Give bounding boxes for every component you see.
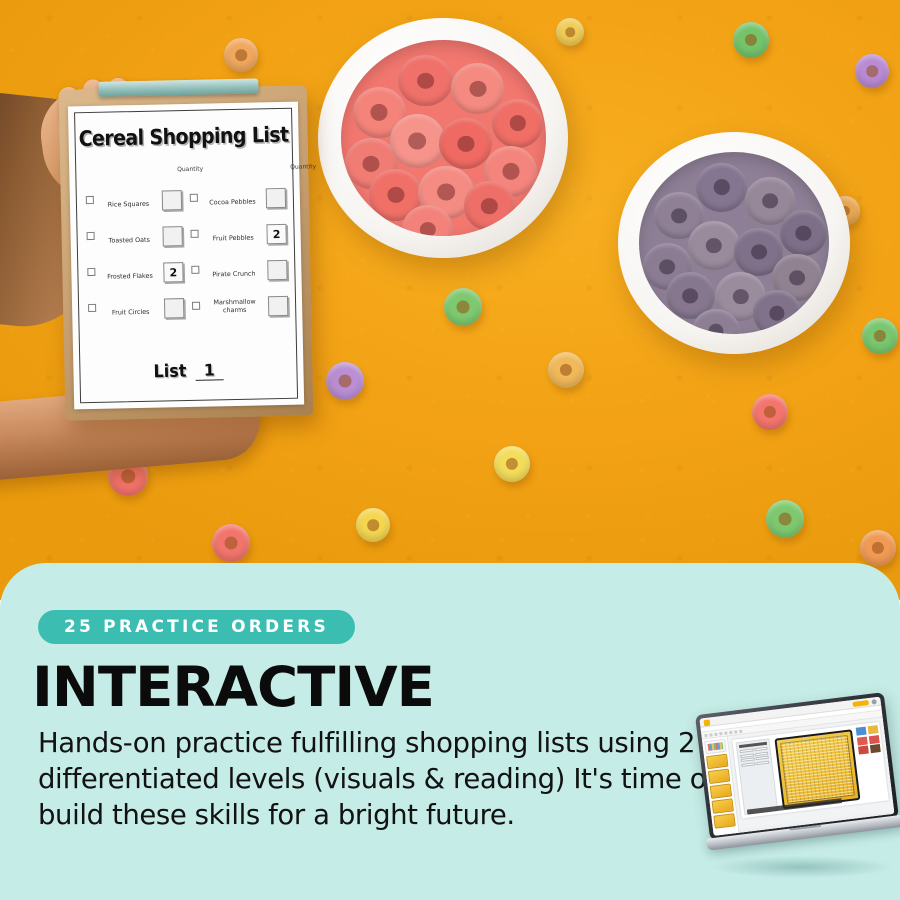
slides-logo-icon [704, 720, 711, 727]
cereal-loop [356, 508, 390, 542]
item-checkbox[interactable] [192, 302, 200, 310]
item-name: Fruit Pebbles [203, 233, 264, 245]
list-item[interactable]: Cocoa Pebbles [189, 176, 286, 210]
cereal-loop [224, 38, 258, 72]
panel-body-line-2: build these skills for a bright future. [38, 798, 718, 834]
cereal-loop [855, 54, 889, 88]
cereal-loop [862, 318, 898, 354]
item-checkbox[interactable] [88, 304, 96, 312]
toolbar-icon[interactable] [719, 732, 722, 735]
slide-shopping-list [736, 738, 779, 815]
red-bowl-contents [341, 40, 546, 237]
cereal-loop [556, 18, 584, 46]
cereal-loop [494, 446, 530, 482]
poster-root: Cereal Shopping List Quantity Quantity R… [0, 0, 900, 900]
item-name: Rice Squares [98, 200, 159, 212]
cereal-box [858, 745, 869, 754]
toolbar-icon[interactable] [729, 730, 732, 733]
slide-thumbnail[interactable] [708, 769, 730, 784]
panel-body-line-1: Hands-on practice fulfilling shopping li… [38, 727, 706, 795]
toolbar-icon[interactable] [734, 730, 737, 733]
purple-bowl-contents [639, 152, 829, 334]
item-name: Toasted Oats [99, 236, 160, 248]
current-slide[interactable] [732, 722, 889, 818]
cereal-loop [548, 352, 584, 388]
purple-cereal-bowl [618, 132, 850, 354]
slide-cereal-boxes[interactable] [856, 725, 887, 800]
practice-orders-badge: 25 PRACTICE ORDERS [38, 610, 355, 644]
list-title: Cereal Shopping List [68, 122, 298, 151]
toolbar-icon[interactable] [704, 733, 707, 736]
item-name: Frosted Flakes [99, 272, 160, 284]
toolbar-icon[interactable] [714, 732, 717, 735]
item-quantity-box[interactable] [267, 260, 287, 280]
item-name: Pirate Crunch [203, 269, 264, 281]
list-item[interactable]: Pirate Crunch [191, 248, 288, 282]
item-quantity-box[interactable]: 2 [163, 262, 183, 282]
item-checkbox[interactable] [191, 266, 199, 274]
list-item[interactable]: Fruit Pebbles 2 [190, 212, 287, 246]
item-checkbox[interactable] [87, 268, 95, 276]
slide-thumbnail[interactable] [706, 754, 728, 769]
item-quantity-box[interactable] [162, 190, 182, 210]
slide-thumbnail[interactable] [713, 813, 735, 828]
shopping-list-paper: Cereal Shopping List Quantity Quantity R… [68, 102, 304, 410]
item-quantity-box[interactable] [162, 226, 182, 246]
cereal-loop [444, 288, 482, 326]
quantity-header-right: Quantity [290, 163, 316, 171]
slide-thumbnail[interactable] [704, 739, 726, 754]
toolbar-icon[interactable] [739, 729, 742, 732]
cereal-box [870, 744, 881, 753]
cereal-loop [212, 524, 250, 562]
cereal-box [857, 736, 868, 745]
cereal-loop [860, 530, 896, 566]
avatar[interactable] [871, 699, 877, 705]
clipboard: Cereal Shopping List Quantity Quantity R… [59, 85, 314, 420]
cereal-box [867, 725, 878, 734]
cereal-box [856, 727, 867, 736]
item-checkbox[interactable] [190, 194, 198, 202]
red-cereal-bowl [318, 18, 568, 258]
item-name: Marshmallow charms [204, 297, 265, 317]
list-grid: Quantity Quantity Rice Squares [85, 164, 288, 320]
toolbar-icon[interactable] [724, 731, 727, 734]
share-button[interactable] [853, 700, 869, 707]
list-item[interactable]: Toasted Oats [86, 214, 183, 248]
list-item[interactable]: Fruit Circles [88, 286, 185, 320]
slide-thumbnail[interactable] [712, 798, 734, 813]
hero-photo: Cereal Shopping List Quantity Quantity R… [0, 0, 900, 600]
item-name: Fruit Circles [100, 308, 161, 320]
cereal-loop [733, 22, 769, 58]
laptop-screen [699, 697, 894, 836]
item-quantity-box[interactable]: 2 [266, 224, 286, 244]
slide-thumbnail[interactable] [710, 783, 732, 798]
app-workspace [702, 717, 894, 835]
item-quantity-box[interactable] [266, 188, 286, 208]
panel-headline: INTERACTIVE [32, 660, 434, 715]
panel-body: Hands-on practice fulfilling shopping li… [38, 726, 718, 833]
cereal-loop [752, 394, 788, 430]
item-checkbox[interactable] [87, 232, 95, 240]
item-quantity-box[interactable] [268, 296, 288, 316]
list-rows: Rice Squares Cocoa Pebbles [85, 176, 288, 320]
slide-canvas[interactable] [728, 717, 895, 832]
laptop-mockup [691, 691, 900, 874]
list-footer-label: List [153, 360, 186, 382]
item-quantity-box[interactable] [164, 298, 184, 318]
toolbar-icon[interactable] [709, 733, 712, 736]
item-checkbox[interactable] [191, 230, 199, 238]
quantity-header-left: Quantity [177, 166, 203, 174]
clipboard-clip [98, 78, 258, 96]
cereal-loop [766, 500, 804, 538]
cereal-box [869, 735, 880, 744]
item-name: Cocoa Pebbles [202, 197, 263, 209]
item-checkbox[interactable] [86, 196, 94, 204]
list-item[interactable]: Frosted Flakes 2 [87, 250, 184, 284]
cereal-loop [326, 362, 364, 400]
list-item[interactable]: Marshmallow charms [192, 284, 289, 318]
list-item[interactable]: Rice Squares [85, 178, 182, 212]
list-footer-value[interactable]: 1 [195, 360, 223, 381]
